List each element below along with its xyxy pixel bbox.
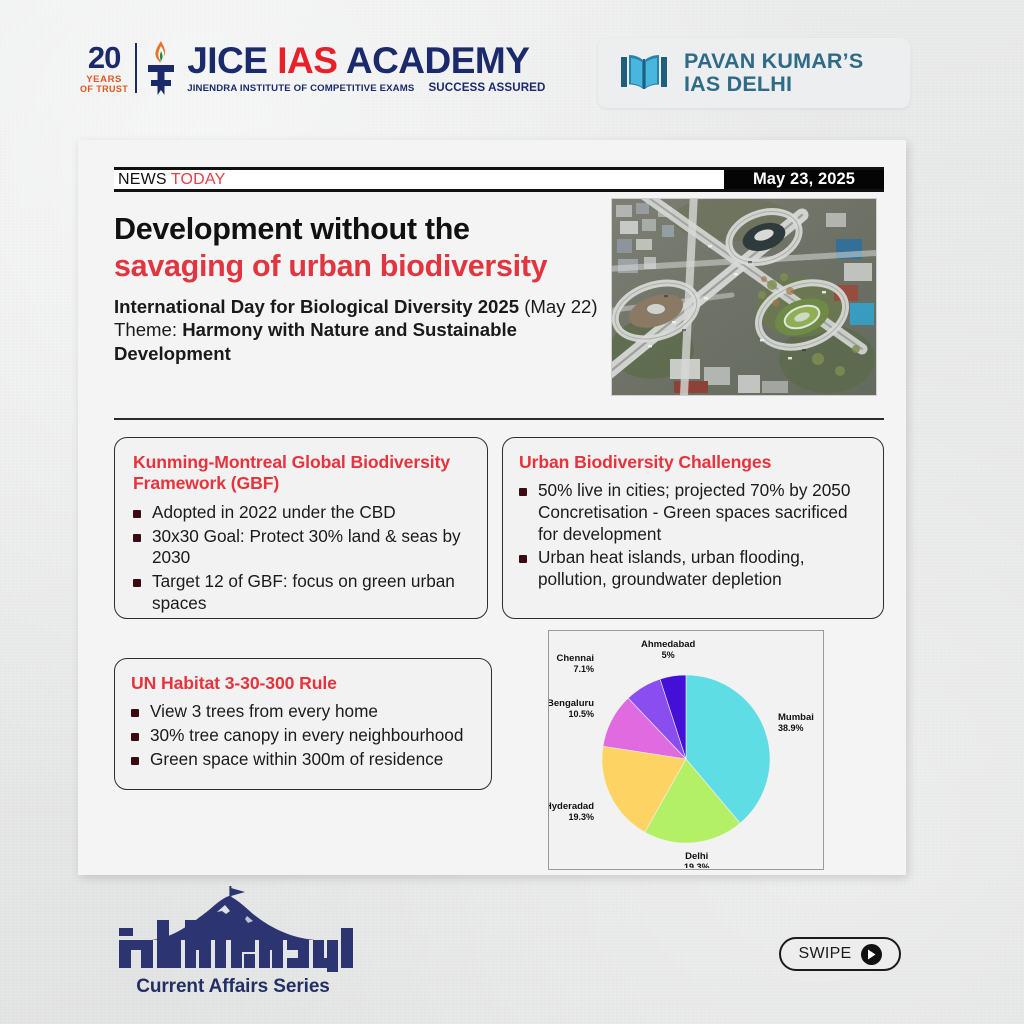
- article-subtitle: International Day for Biological Diversi…: [114, 295, 619, 367]
- article-headline: Development without the savaging of urba…: [114, 212, 619, 366]
- years-of-trust-badge: 20 YEARS OF TRUST: [80, 42, 128, 95]
- news-label: NEWS: [118, 171, 167, 189]
- list-item: Adopted in 2022 under the CBD: [131, 502, 473, 524]
- mountain-climber-icon: [113, 884, 353, 972]
- academy-tagline: JINENDRA INSTITUTE OF COMPETITIVE EXAMS: [187, 83, 414, 94]
- list-item: Target 12 of GBF: focus on green urban s…: [131, 571, 473, 614]
- subtitle-bold-1: International Day for Biological Diversi…: [114, 296, 519, 317]
- card-urban-challenges: Urban Biodiversity Challenges 50% live i…: [502, 437, 884, 619]
- swipe-label: SWIPE: [798, 945, 851, 963]
- card-gbf: Kunming-Montreal Global Biodiversity Fra…: [114, 437, 488, 619]
- news-card-panel: NEWS TODAY May 23, 2025 Development with…: [78, 140, 906, 875]
- pie-label-name: Delhi: [685, 851, 708, 862]
- news-today-bar: NEWS TODAY May 23, 2025: [114, 167, 884, 192]
- card-gbf-title: Kunming-Montreal Global Biodiversity Fra…: [115, 438, 487, 495]
- pie-label-name: Chennai: [557, 653, 594, 664]
- pie-label-name: Ahmedabad: [641, 639, 696, 650]
- page-header: 20 YEARS OF TRUST JICE IAS ACADEMY JINEN…: [0, 0, 1024, 128]
- tricolor-flame-icon: [144, 40, 178, 96]
- list-item: View 3 trees from every home: [129, 701, 479, 723]
- news-today-label: NEWS TODAY: [114, 170, 724, 189]
- years-number: 20: [88, 42, 120, 73]
- academy-wordmark: JICE IAS ACADEMY JINENDRA INSTITUTE OF C…: [187, 42, 545, 94]
- academy-name: JICE IAS ACADEMY: [187, 42, 545, 79]
- academy-assurance: SUCCESS ASSURED: [428, 81, 545, 94]
- swipe-button[interactable]: SWIPE: [779, 937, 901, 971]
- aerial-highway-interchange-photo: [611, 198, 877, 396]
- pie-label-name: Mumbai: [778, 712, 814, 723]
- pie-label-value: 7.1%: [573, 664, 594, 674]
- headline-line-1: Development without the: [114, 212, 619, 247]
- pie-chart-svg: Mumbai38.9%Delhi19.3%Hyderadad19.3%Benga…: [549, 631, 822, 868]
- list-item: 30% tree canopy in every neighbourhood: [129, 725, 479, 747]
- academy-taglines: JINENDRA INSTITUTE OF COMPETITIVE EXAMS …: [187, 81, 545, 94]
- pie-label-value: 19.3%: [684, 862, 710, 868]
- academy-name-jice: JICE: [187, 40, 277, 81]
- logo-divider: [135, 43, 137, 93]
- partner-badge: PAVAN KUMAR’S IAS DELHI: [598, 38, 910, 108]
- list-item: Urban heat islands, urban flooding, poll…: [517, 547, 871, 590]
- card-urban-challenges-bullets: 50% live in cities; projected 70% by 205…: [503, 480, 883, 590]
- abhiprayah-brand: Current Affairs Series: [83, 884, 383, 998]
- pie-label-name: Hyderadad: [549, 801, 594, 812]
- partner-name: PAVAN KUMAR’S IAS DELHI: [684, 50, 863, 96]
- list-item: 30x30 Goal: Protect 30% land & seas by 2…: [131, 526, 473, 569]
- play-arrow-icon: [861, 944, 882, 965]
- card-urban-challenges-title: Urban Biodiversity Challenges: [503, 438, 883, 473]
- card-un-habitat-title: UN Habitat 3-30-300 Rule: [115, 659, 491, 694]
- abhiprayah-tagline: Current Affairs Series: [83, 976, 383, 998]
- pie-label-name: Bengaluru: [549, 698, 594, 709]
- date-text: May 23, 2025: [753, 170, 855, 189]
- card-un-habitat-bullets: View 3 trees from every home 30% tree ca…: [115, 701, 491, 770]
- list-item: 50% live in cities; projected 70% by 205…: [517, 480, 871, 545]
- open-book-icon: [618, 51, 670, 95]
- today-label: TODAY: [171, 171, 226, 189]
- pie-label-value: 10.5%: [568, 709, 594, 719]
- card-gbf-bullets: Adopted in 2022 under the CBD 30x30 Goal…: [115, 502, 487, 614]
- section-divider: [114, 418, 884, 420]
- academy-name-academy: ACADEMY: [337, 40, 529, 81]
- pie-label-value: 38.9%: [778, 723, 804, 733]
- partner-line2: IAS DELHI: [684, 73, 863, 96]
- headline-line-2: savaging of urban biodiversity: [114, 247, 619, 285]
- pie-label-value: 5%: [662, 650, 675, 660]
- date-block: May 23, 2025: [724, 170, 884, 189]
- academy-name-ias: IAS: [277, 40, 337, 81]
- pie-label-value: 19.3%: [568, 812, 594, 822]
- jice-academy-logo: 20 YEARS OF TRUST JICE IAS ACADEMY JINEN…: [80, 40, 545, 96]
- partner-line1: PAVAN KUMAR’S: [684, 50, 863, 73]
- trust-label: OF TRUST: [80, 85, 128, 94]
- card-un-habitat: UN Habitat 3-30-300 Rule View 3 trees fr…: [114, 658, 492, 790]
- city-share-pie-chart: Mumbai38.9%Delhi19.3%Hyderadad19.3%Benga…: [548, 630, 824, 870]
- list-item: Green space within 300m of residence: [129, 749, 479, 771]
- years-label: YEARS: [86, 75, 122, 85]
